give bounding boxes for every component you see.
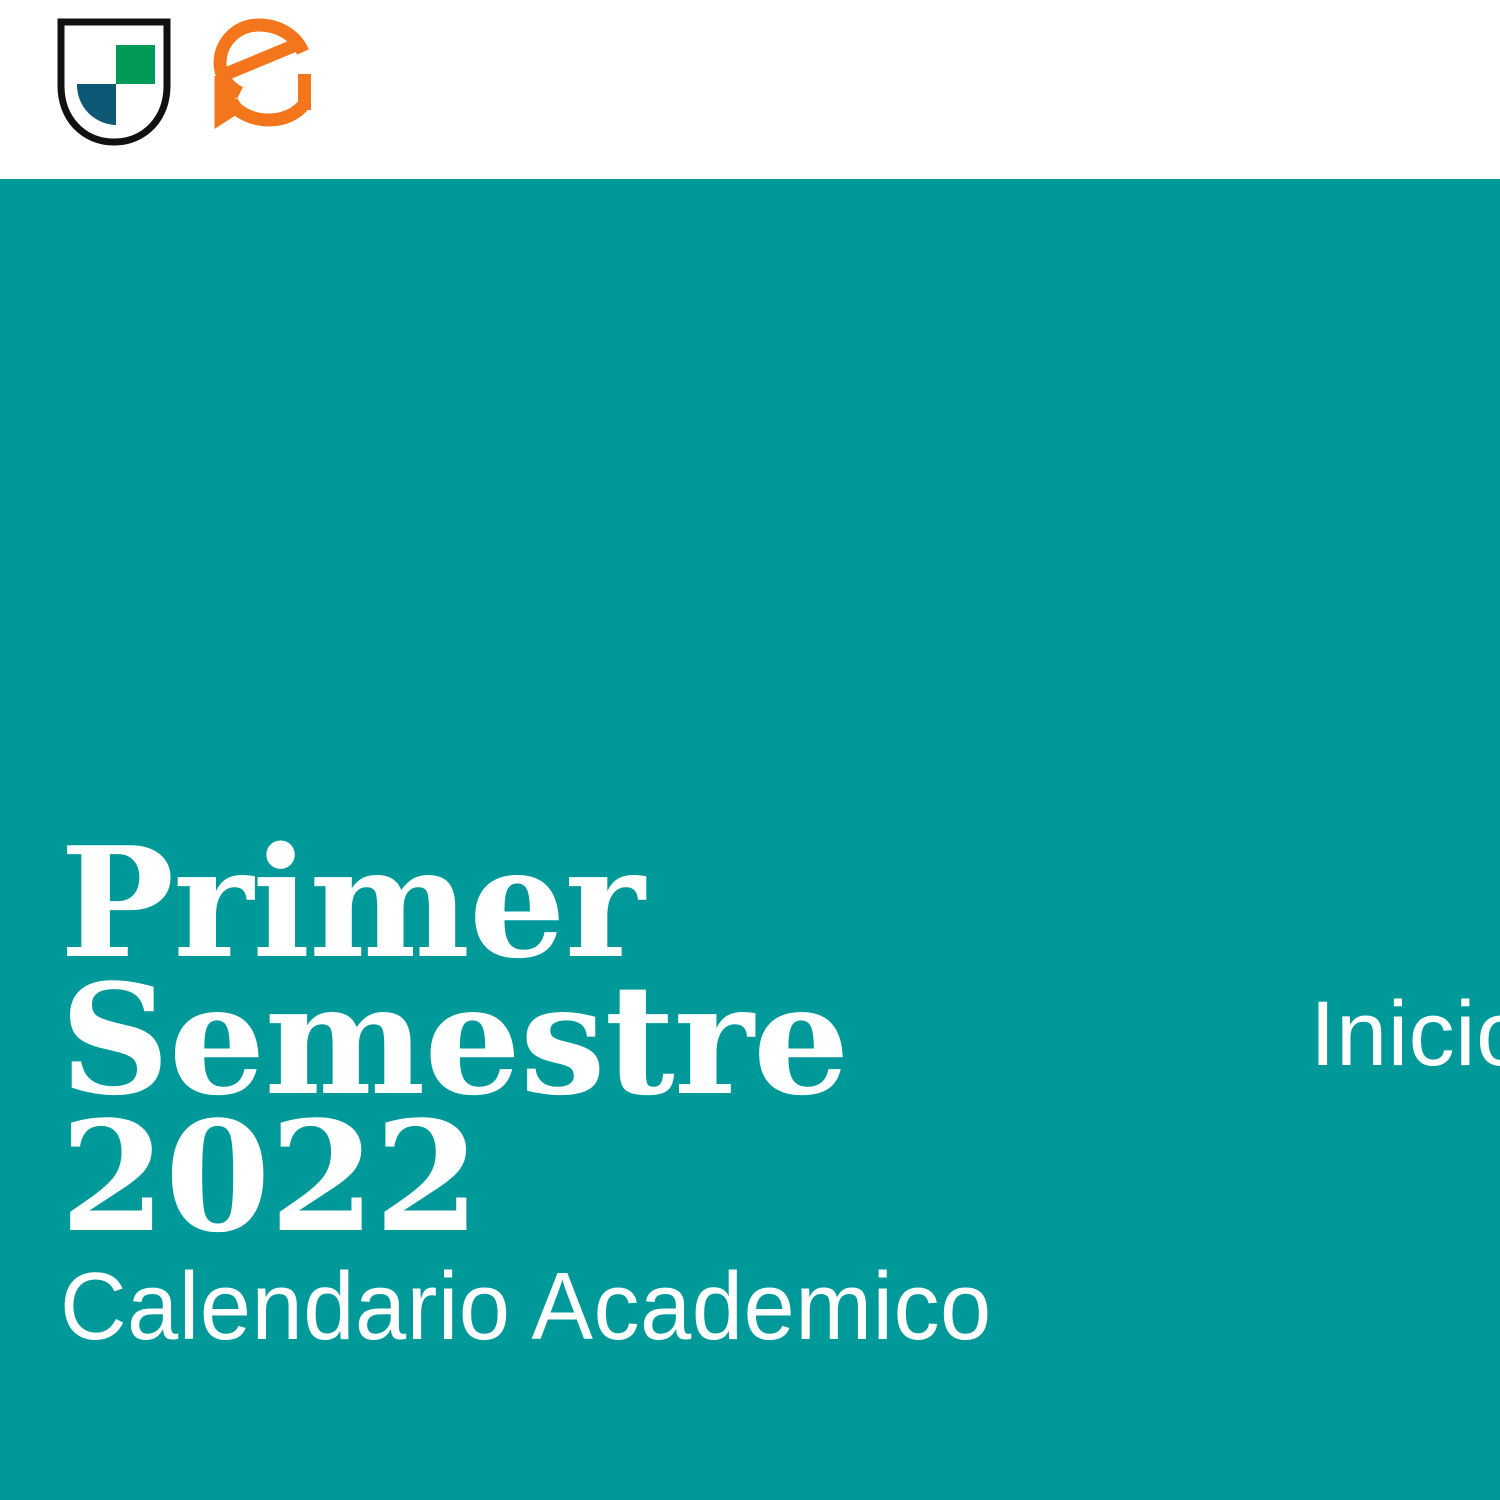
page-subtitle: Calendario Academico: [60, 1259, 1020, 1355]
side-label-inicio: Inicio: [1310, 988, 1500, 1080]
university-shield-logo-icon: [57, 18, 171, 146]
page-title: Primer Semestre 2022: [60, 835, 1060, 1245]
title-block: Primer Semestre 2022 Calendario Academic…: [60, 835, 1060, 1355]
logo-row: [57, 18, 311, 146]
header-band: [0, 0, 1500, 179]
poster-canvas: Primer Semestre 2022 Calendario Academic…: [0, 0, 1500, 1500]
title-line-3: 2022: [60, 1109, 1060, 1246]
stylized-e-emblem-logo-icon: [207, 18, 311, 142]
